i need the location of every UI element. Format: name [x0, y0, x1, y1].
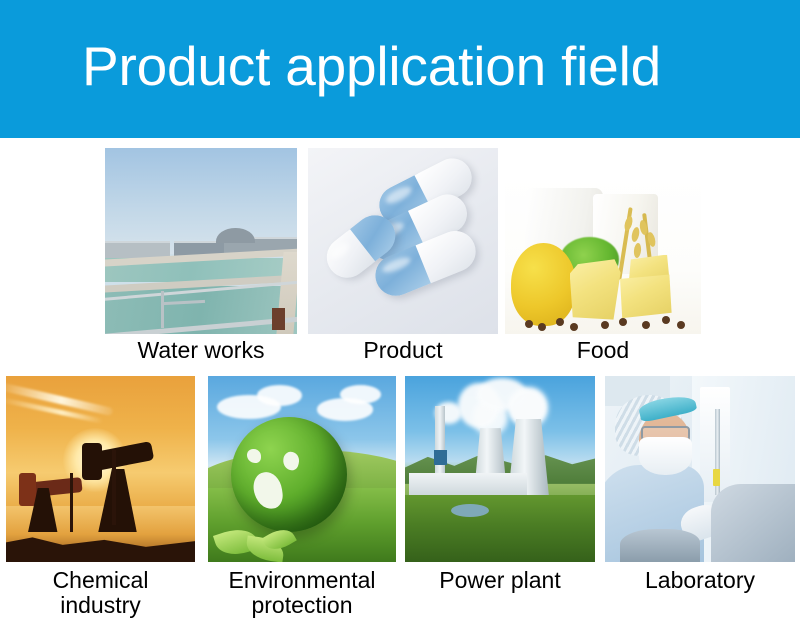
- page-header-banner: Product application field: [0, 0, 800, 138]
- card-label-power-plant: Power plant: [405, 568, 595, 593]
- water-works-illustration: [105, 148, 297, 334]
- card-label-water-works: Water works: [105, 338, 297, 363]
- card-label-laboratory: Laboratory: [605, 568, 795, 593]
- application-card-food[interactable]: Food: [505, 175, 701, 364]
- card-label-product: Product: [308, 338, 498, 363]
- food-illustration: [505, 175, 701, 334]
- application-card-power-plant[interactable]: Power plant: [405, 376, 595, 626]
- water-treatment-plant-photo: [105, 148, 297, 334]
- environmental-protection-illustration: [208, 376, 396, 562]
- capsules-illustration: [308, 148, 498, 334]
- laboratory-illustration: [605, 376, 795, 562]
- card-label-environmental-protection: Environmental protection: [208, 568, 396, 618]
- card-label-chemical-industry: Chemical industry: [6, 568, 195, 618]
- green-globe-meadow-photo: [208, 376, 396, 562]
- power-plant-illustration: [405, 376, 595, 562]
- application-card-water-works[interactable]: Water works: [105, 148, 297, 364]
- blue-white-capsules-photo: [308, 148, 498, 334]
- application-card-product[interactable]: Product: [308, 148, 498, 364]
- application-card-chemical-industry[interactable]: Chemical industry: [6, 376, 195, 626]
- card-label-food: Food: [505, 338, 701, 363]
- lab-technician-cleanroom-photo: [605, 376, 795, 562]
- product-application-field-poster: Product application field Water works: [0, 0, 800, 635]
- page-title: Product application field: [82, 30, 661, 102]
- application-card-environmental-protection[interactable]: Environmental protection: [208, 376, 396, 626]
- cooling-towers-power-station-photo: [405, 376, 595, 562]
- dairy-cheese-grain-photo: [505, 175, 701, 334]
- chemical-industry-illustration: [6, 376, 195, 562]
- application-card-laboratory[interactable]: Laboratory: [605, 376, 795, 626]
- oil-pumpjack-sunset-photo: [6, 376, 195, 562]
